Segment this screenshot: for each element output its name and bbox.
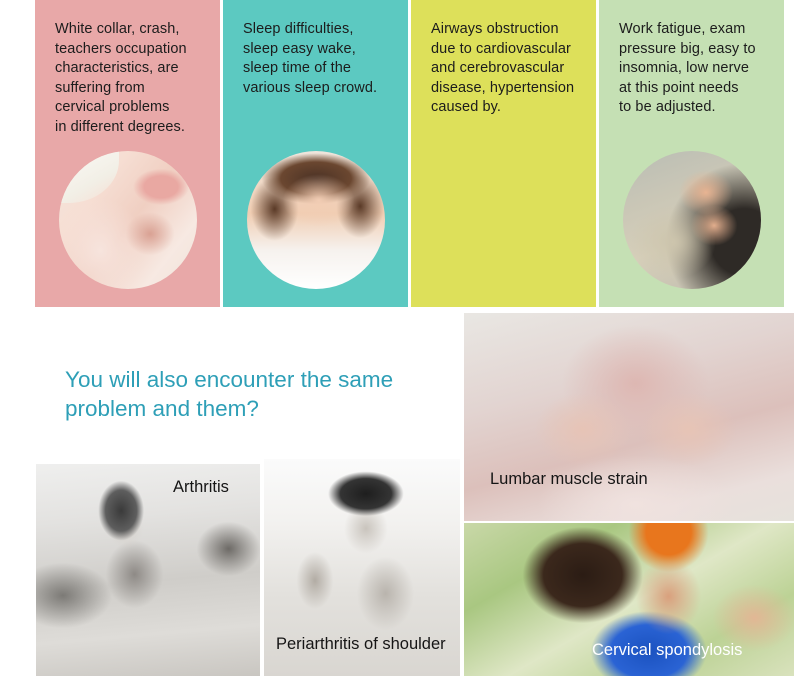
symptom-panel-white-collar: White collar, crash, teachers occupation… — [35, 0, 220, 307]
caption-periarthritis-of-shoulder: Periarthritis of shoulder — [276, 635, 446, 654]
symptom-panel-text: Sleep difficulties, sleep easy wake, sle… — [243, 20, 398, 98]
caption-lumbar-muscle-strain: Lumbar muscle strain — [490, 470, 648, 489]
symptom-panel-work-fatigue: Work fatigue, exam pressure big, easy to… — [599, 0, 784, 307]
symptom-panel-text: White collar, crash, teachers occupation… — [55, 20, 210, 137]
lower-back-pain-photo: Lumbar muscle strain — [464, 313, 794, 521]
symptom-panel-airways: Airways obstruction due to cardiovascula… — [411, 0, 596, 307]
caption-arthritis: Arthritis — [173, 478, 229, 497]
neck-pain-outdoor-photo: Cervical spondylosis — [464, 523, 794, 676]
symptom-panels-row: White collar, crash, teachers occupation… — [35, 0, 784, 307]
tired-man-with-book-photo — [623, 151, 761, 289]
shoulder-pain-photo: Periarthritis of shoulder — [264, 459, 460, 676]
caption-cervical-spondylosis: Cervical spondylosis — [592, 641, 742, 660]
symptom-panel-text: Work fatigue, exam pressure big, easy to… — [619, 20, 774, 118]
woman-headache-photo — [435, 151, 573, 289]
conditions-section: You will also encounter the same problem… — [0, 307, 794, 676]
symptom-panel-text: Airways obstruction due to cardiovascula… — [431, 20, 586, 118]
arthritis-knee-pain-photo: Arthritis — [36, 464, 260, 676]
neck-pain-closeup-photo — [59, 151, 197, 289]
section-headline: You will also encounter the same problem… — [65, 365, 465, 423]
woman-insomnia-in-bed-photo — [247, 151, 385, 289]
symptom-panel-sleep: Sleep difficulties, sleep easy wake, sle… — [223, 0, 408, 307]
